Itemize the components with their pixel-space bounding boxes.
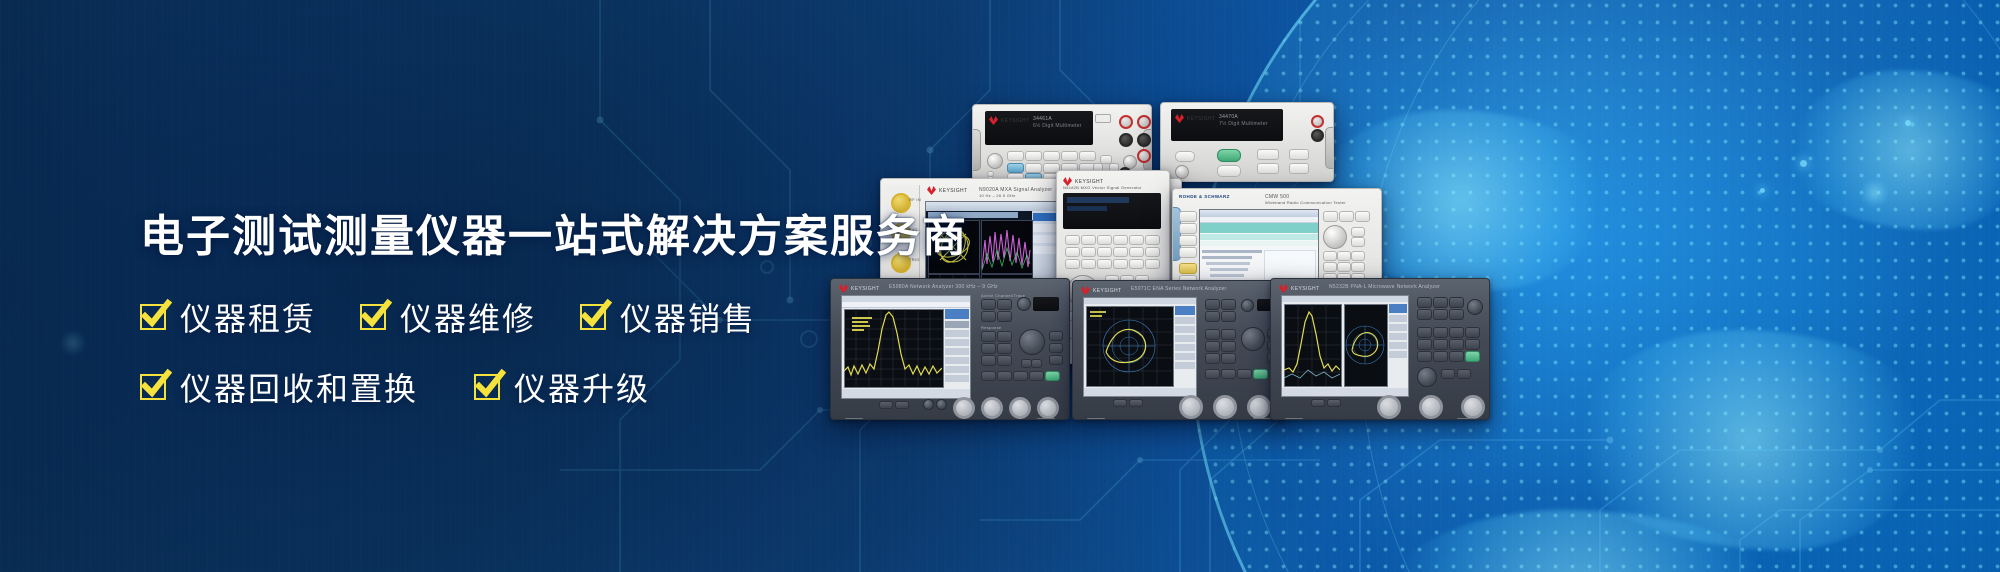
banner-copy: 电子测试测量仪器一站式解决方案服务商 仪器租赁 仪器维修 <box>140 200 968 434</box>
service-label: 仪器销售 <box>620 294 756 340</box>
service-label: 仪器租赁 <box>180 294 316 340</box>
service-item-repair[interactable]: 仪器维修 <box>360 294 536 340</box>
analyzer-screen <box>1281 295 1409 397</box>
service-item-rental[interactable]: 仪器租赁 <box>140 294 316 340</box>
service-row-1: 仪器租赁 仪器维修 仪器销售 <box>140 294 968 340</box>
service-label: 仪器维修 <box>400 294 536 340</box>
network-analyzer-2: KEYSIGHT E5071C ENA Series Network Analy… <box>1072 280 1286 420</box>
instrument-handle <box>1325 127 1334 169</box>
page-title: 电子测试测量仪器一站式解决方案服务商 <box>140 200 968 264</box>
checkbox-checked-icon <box>140 374 166 400</box>
service-rows: 仪器租赁 仪器维修 仪器销售 <box>140 294 968 410</box>
checkbox-checked-icon <box>360 304 386 330</box>
service-item-recycle-exchange[interactable]: 仪器回收和置换 <box>140 364 418 410</box>
analyzer-screen <box>1083 297 1197 397</box>
promo-banner: KEYSIGHT 34461A 6½ Digit Multimeter <box>0 0 2000 572</box>
checkbox-checked-icon <box>140 304 166 330</box>
service-label: 仪器回收和置换 <box>180 364 418 410</box>
checkbox-checked-icon <box>474 374 500 400</box>
network-analyzer-3: KEYSIGHT N5232B PNA-L Microwave Network … <box>1270 278 1490 420</box>
service-row-2: 仪器回收和置换 仪器升级 <box>140 364 968 410</box>
dmm-display: KEYSIGHT 34461A 6½ Digit Multimeter <box>985 111 1093 145</box>
service-item-upgrade[interactable]: 仪器升级 <box>474 364 650 410</box>
checkbox-checked-icon <box>580 304 606 330</box>
dmm-display: KEYSIGHT 34470A 7½ Digit Multimeter <box>1171 109 1283 141</box>
instrument-handle <box>972 129 981 171</box>
service-item-sales[interactable]: 仪器销售 <box>580 294 756 340</box>
service-label: 仪器升级 <box>514 364 650 410</box>
digital-multimeter-right: KEYSIGHT 34470A 7½ Digit Multimeter <box>1160 102 1334 182</box>
